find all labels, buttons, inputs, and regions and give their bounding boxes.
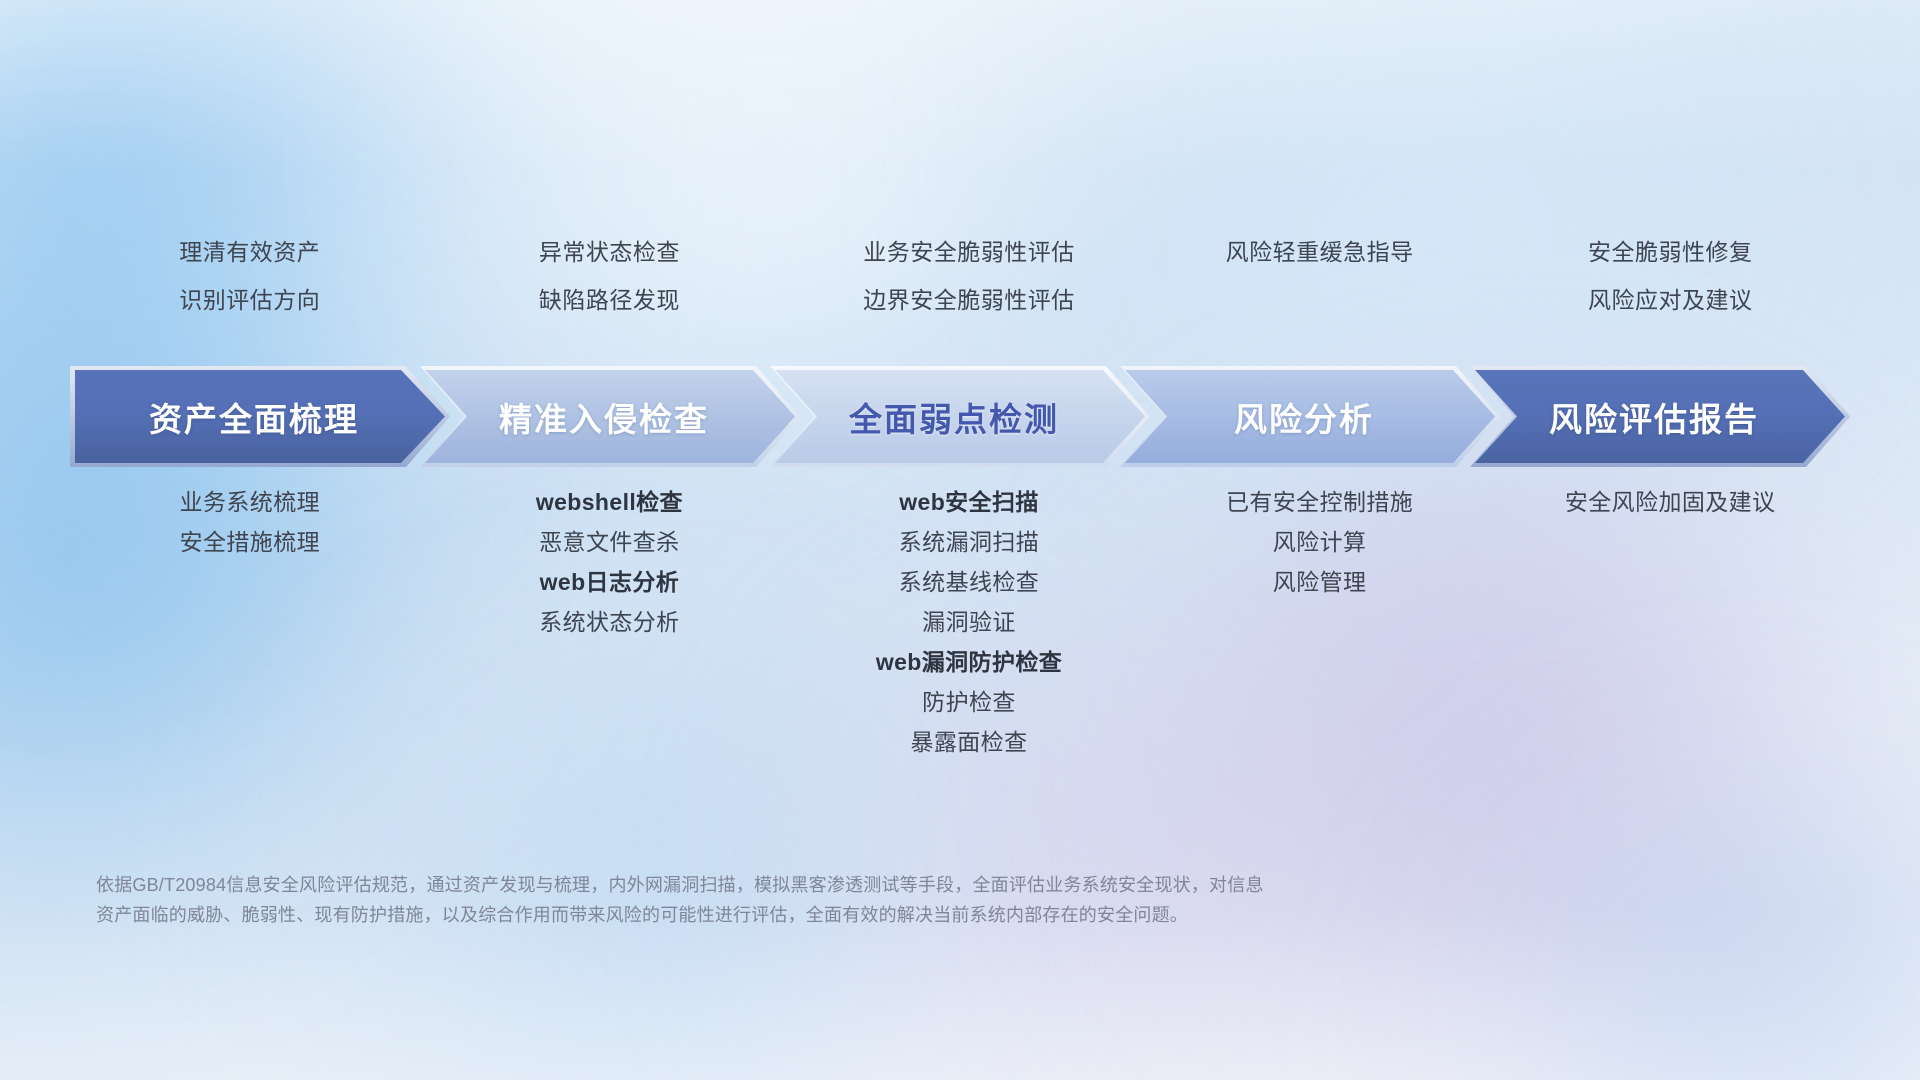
chevron-label: 风险评估报告 <box>1470 393 1850 441</box>
top-labels-stage-5: 安全脆弱性修复 风险应对及建议 <box>1490 228 1850 324</box>
top-label: 风险应对及建议 <box>1490 276 1850 324</box>
bottom-label: web安全扫描 <box>789 482 1149 522</box>
bottom-label: 风险计算 <box>1149 522 1491 562</box>
bottom-label: 漏洞验证 <box>789 602 1149 642</box>
bottom-labels-stage-3: web安全扫描 系统漏洞扫描 系统基线检查 漏洞验证 web漏洞防护检查 防护检… <box>789 482 1149 762</box>
bottom-label: 安全措施梳理 <box>70 522 430 562</box>
top-labels-row: 理清有效资产 识别评估方向 异常状态检查 缺陷路径发现 业务安全脆弱性评估 边界… <box>70 228 1850 324</box>
chevron-stage-4[interactable]: 风险分析 <box>1120 366 1500 467</box>
top-label: 业务安全脆弱性评估 <box>789 228 1149 276</box>
bottom-label: 防护检查 <box>789 682 1149 722</box>
bottom-labels-stage-4: 已有安全控制措施 风险计算 风险管理 <box>1149 482 1491 602</box>
top-labels-stage-2: 异常状态检查 缺陷路径发现 <box>430 228 790 324</box>
chevron-stage-2[interactable]: 精准入侵检查 <box>420 366 800 467</box>
top-labels-stage-3: 业务安全脆弱性评估 边界安全脆弱性评估 <box>789 228 1149 324</box>
top-labels-stage-1: 理清有效资产 识别评估方向 <box>70 228 430 324</box>
bottom-label: 安全风险加固及建议 <box>1490 482 1850 522</box>
top-label: 边界安全脆弱性评估 <box>789 276 1149 324</box>
top-label: 异常状态检查 <box>430 228 790 276</box>
bottom-label: 系统漏洞扫描 <box>789 522 1149 562</box>
bottom-label: 系统状态分析 <box>430 602 790 642</box>
chevron-label: 资产全面梳理 <box>70 393 450 441</box>
footer-line-1: 依据GB/T20984信息安全风险评估规范，通过资产发现与梳理，内外网漏洞扫描，… <box>96 870 1656 900</box>
top-label: 缺陷路径发现 <box>430 276 790 324</box>
bottom-label: 系统基线检查 <box>789 562 1149 602</box>
bottom-label: 风险管理 <box>1149 562 1491 602</box>
bottom-labels-stage-1: 业务系统梳理 安全措施梳理 <box>70 482 430 562</box>
bottom-label: web漏洞防护检查 <box>789 642 1149 682</box>
bottom-label: 暴露面检查 <box>789 722 1149 762</box>
top-label: 风险轻重缓急指导 <box>1149 228 1491 276</box>
top-label: 识别评估方向 <box>70 276 430 324</box>
chevron-stage-3[interactable]: 全面弱点检测 <box>770 366 1150 467</box>
bottom-labels-stage-2: webshell检查 恶意文件查杀 web日志分析 系统状态分析 <box>430 482 790 642</box>
bottom-labels-stage-5: 安全风险加固及建议 <box>1490 482 1850 522</box>
bottom-label: webshell检查 <box>430 482 790 522</box>
chevron-label: 风险分析 <box>1120 393 1500 441</box>
chevron-stage-1[interactable]: 资产全面梳理 <box>70 366 450 467</box>
footer-description: 依据GB/T20984信息安全风险评估规范，通过资产发现与梳理，内外网漏洞扫描，… <box>96 870 1656 930</box>
chevron-label: 全面弱点检测 <box>770 393 1150 441</box>
bottom-label: 业务系统梳理 <box>70 482 430 522</box>
chevron-label: 精准入侵检查 <box>420 393 800 441</box>
process-chevron-band: 资产全面梳理 精准入侵检查 全面弱点检测 风险分析 风险评估报告 <box>70 366 1850 467</box>
diagram-stage: 理清有效资产 识别评估方向 异常状态检查 缺陷路径发现 业务安全脆弱性评估 边界… <box>0 0 1920 1080</box>
top-label: 理清有效资产 <box>70 228 430 276</box>
bottom-label: web日志分析 <box>430 562 790 602</box>
top-labels-stage-4: 风险轻重缓急指导 <box>1149 228 1491 324</box>
bottom-label: 恶意文件查杀 <box>430 522 790 562</box>
bottom-labels-row: 业务系统梳理 安全措施梳理 webshell检查 恶意文件查杀 web日志分析 … <box>70 482 1850 762</box>
chevron-stage-5[interactable]: 风险评估报告 <box>1470 366 1850 467</box>
footer-line-2: 资产面临的威胁、脆弱性、现有防护措施，以及综合作用而带来风险的可能性进行评估，全… <box>96 900 1656 930</box>
bottom-label: 已有安全控制措施 <box>1149 482 1491 522</box>
top-label: 安全脆弱性修复 <box>1490 228 1850 276</box>
